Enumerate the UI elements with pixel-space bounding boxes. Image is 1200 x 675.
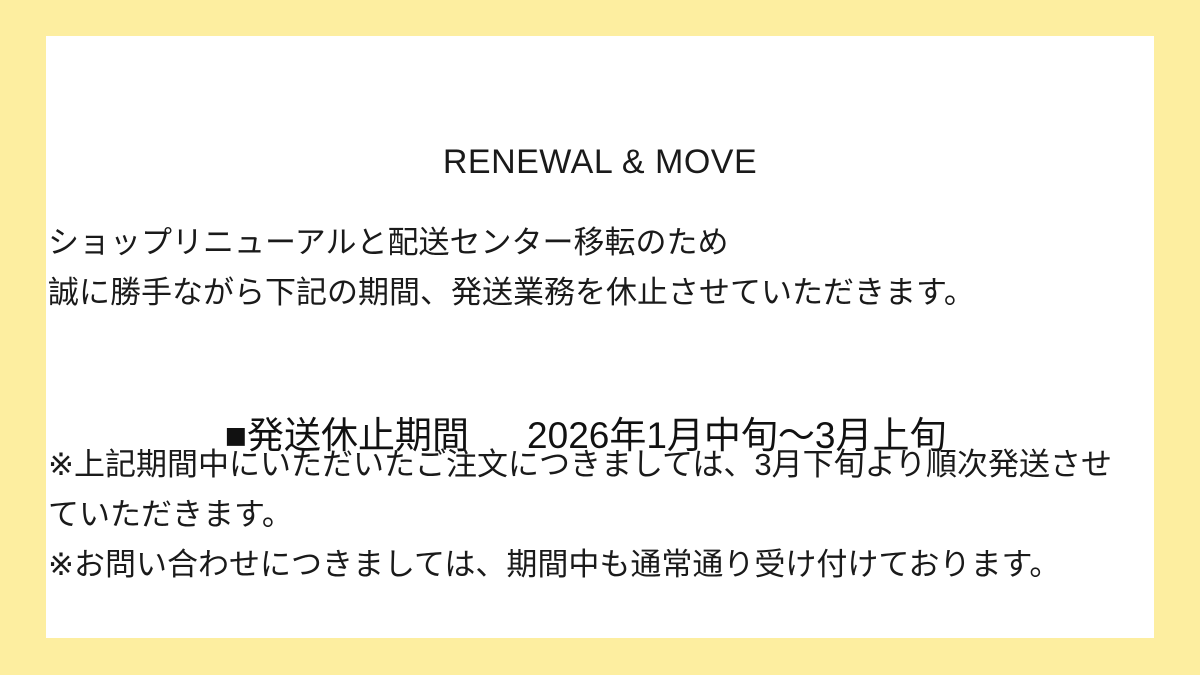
intro-line-1: ショップリニューアルと配送センター移転のため xyxy=(48,218,1148,268)
page-title: RENEWAL & MOVE xyxy=(46,140,1154,184)
intro-paragraph: ショップリニューアルと配送センター移転のため 誠に勝手ながら下記の期間、発送業務… xyxy=(48,218,1148,318)
intro-line-2: 誠に勝手ながら下記の期間、発送業務を休止させていただきます。 xyxy=(48,268,1148,318)
note-item: ※お問い合わせにつきましては、期間中も通常通り受け付けております。 xyxy=(48,540,1140,590)
notice-slide: RENEWAL & MOVE ショップリニューアルと配送センター移転のため 誠に… xyxy=(0,0,1200,675)
notice-card: RENEWAL & MOVE ショップリニューアルと配送センター移転のため 誠に… xyxy=(46,36,1154,638)
note-item: ※上記期間中にいただいたご注文につきましては、3月下旬より順次発送させていただき… xyxy=(48,440,1140,540)
notes-list: ※上記期間中にいただいたご注文につきましては、3月下旬より順次発送させていただき… xyxy=(48,440,1140,590)
